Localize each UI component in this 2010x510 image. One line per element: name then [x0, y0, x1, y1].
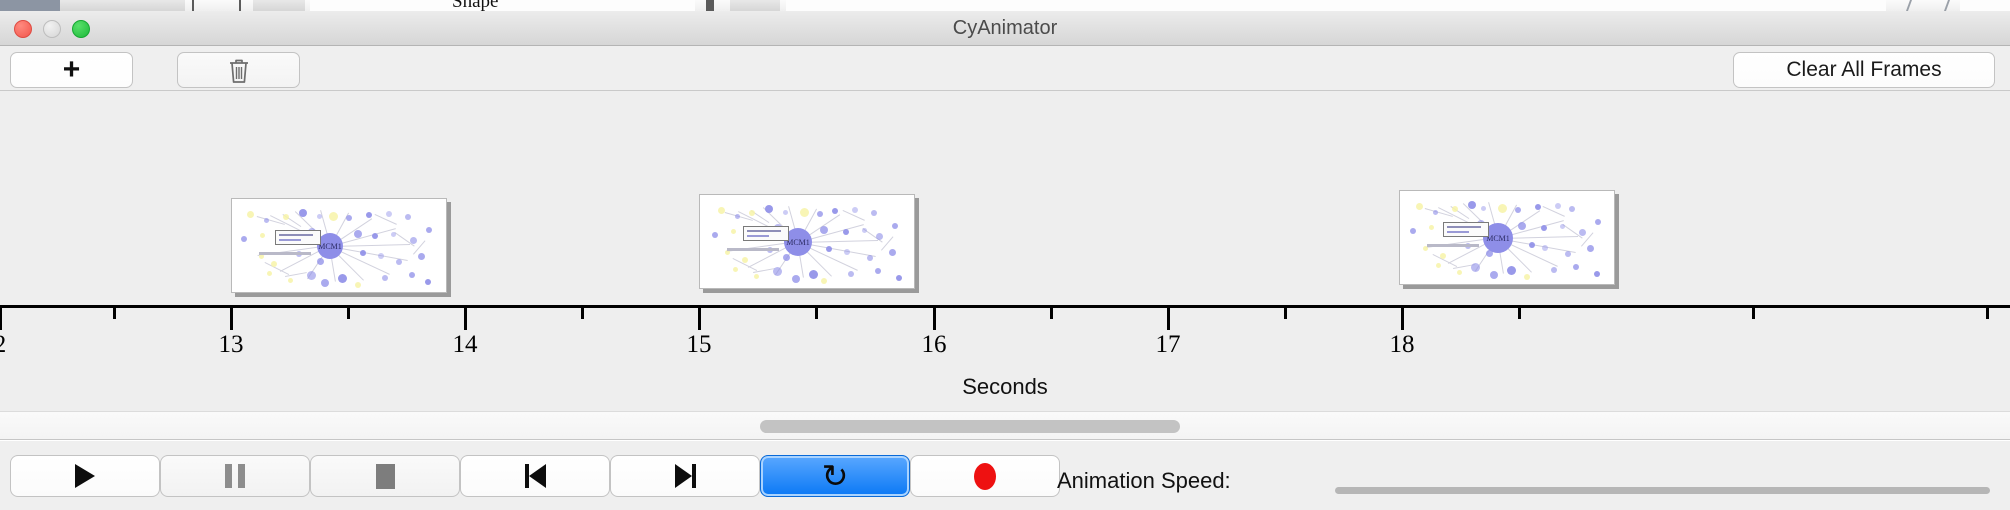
graph-node — [783, 210, 788, 215]
graph-node — [1579, 229, 1586, 236]
axis-tick-minor — [1050, 308, 1053, 319]
graph-node — [1541, 225, 1547, 231]
graph-node — [843, 229, 849, 235]
timeline-axis — [0, 305, 2010, 308]
axis-tick-label: 2 — [0, 331, 6, 359]
axis-tick-label: 14 — [453, 331, 478, 359]
animation-speed-slider[interactable] — [1335, 487, 1990, 494]
graph-node — [712, 232, 718, 238]
graph-node — [1535, 204, 1541, 210]
graph-node — [260, 233, 265, 238]
graph-node — [378, 253, 384, 259]
graph-node — [1471, 263, 1480, 272]
graph-node — [1452, 206, 1458, 212]
graph-node — [1410, 228, 1416, 234]
axis-tick-minor — [815, 308, 818, 319]
play-icon — [75, 464, 95, 488]
graph-node — [892, 223, 898, 229]
graph-node — [826, 246, 832, 252]
graph-annotation-text — [259, 252, 311, 255]
graph-node — [718, 207, 725, 214]
graph-node — [1569, 206, 1575, 212]
graph-callout — [1443, 222, 1489, 237]
graph-node — [792, 275, 800, 283]
graph-node — [733, 267, 738, 272]
graph-node — [1436, 263, 1441, 268]
graph-node — [1551, 267, 1557, 273]
graph-edge — [1543, 206, 1565, 217]
graph-node — [307, 271, 316, 280]
axis-tick-minor — [113, 308, 116, 319]
stop-icon — [376, 464, 395, 489]
graph-node — [848, 271, 854, 277]
graph-node — [1555, 203, 1561, 209]
graph-node — [1490, 271, 1498, 279]
axis-tick-major — [698, 308, 701, 330]
axis-tick-minor — [1518, 308, 1521, 319]
graph-node — [754, 274, 759, 279]
graph-node — [749, 210, 755, 216]
graph-node — [354, 230, 362, 238]
axis-tick-major — [933, 308, 936, 330]
frame-thumbnail: MCM1 — [235, 202, 443, 289]
axis-tick-minor — [347, 308, 350, 319]
axis-tick-minor — [1752, 308, 1755, 319]
cyanimator-window: Shape CyAnimator + Clear All Frames MCM1… — [0, 0, 2010, 510]
graph-node — [773, 267, 782, 276]
graph-node — [832, 208, 838, 214]
axis-tick-minor — [581, 308, 584, 319]
graph-node — [867, 255, 873, 261]
delete-frame-button[interactable] — [177, 52, 300, 88]
graph-node — [765, 205, 773, 213]
graph-node — [1507, 266, 1516, 275]
loop-button[interactable]: ↻ — [760, 455, 910, 497]
graph-node — [317, 258, 324, 265]
graph-node — [1518, 222, 1526, 230]
graph-node — [1573, 264, 1579, 270]
axis-tick-major — [230, 308, 233, 330]
graph-node — [735, 214, 740, 219]
graph-node — [317, 214, 322, 219]
graph-node — [338, 274, 347, 283]
graph-callout — [743, 226, 789, 241]
graph-node — [409, 272, 415, 278]
graph-node — [1524, 274, 1530, 280]
graph-node — [264, 218, 269, 223]
graph-node — [405, 214, 411, 220]
graph-node — [1587, 245, 1594, 252]
axis-tick-minor — [1284, 308, 1287, 319]
graph-node — [876, 233, 883, 240]
graph-node — [288, 278, 293, 283]
timeline-frame[interactable]: MCM1 — [1399, 190, 1615, 285]
axis-tick-label: 15 — [687, 331, 712, 359]
graph-node — [355, 282, 361, 288]
skip-forward-button[interactable] — [610, 455, 760, 497]
graph-node — [731, 229, 736, 234]
axis-tick-label: 17 — [1156, 331, 1181, 359]
timeline-frame[interactable]: MCM1 — [231, 198, 447, 293]
graph-node — [299, 209, 307, 217]
graph-node — [1565, 251, 1571, 257]
graph-node — [418, 253, 425, 260]
graph-node — [366, 212, 372, 218]
graph-node — [820, 226, 828, 234]
graph-node — [800, 208, 809, 217]
timeline-frame[interactable]: MCM1 — [699, 194, 915, 289]
graph-node — [821, 278, 827, 284]
graph-node — [1595, 219, 1601, 225]
graph-node — [889, 249, 896, 256]
graph-node — [1529, 242, 1535, 248]
play-button[interactable] — [10, 455, 160, 497]
timeline-scrollbar[interactable] — [0, 411, 2010, 440]
graph-node — [283, 214, 289, 220]
graph-node — [1429, 225, 1434, 230]
axis-tick-label: 13 — [219, 331, 244, 359]
graph-node — [425, 279, 431, 285]
timeline-panel[interactable]: MCM1MCM1MCM1 2131415161718 Seconds — [0, 91, 2010, 411]
frames-layer: MCM1MCM1MCM1 — [0, 91, 2010, 306]
add-frame-button[interactable]: + — [10, 52, 133, 88]
axis-tick-major — [1401, 308, 1404, 330]
axis-tick-label: 18 — [1390, 331, 1415, 359]
graph-node — [817, 211, 823, 217]
graph-node — [783, 254, 790, 261]
graph-node — [267, 271, 272, 276]
transport-bar: ↻ Animation Speed: — [0, 441, 2010, 510]
graph-annotation-text — [1427, 244, 1479, 247]
axis-tick-minor — [1986, 308, 1989, 319]
graph-node — [247, 211, 254, 218]
graph-node — [241, 236, 247, 242]
graph-node — [1498, 204, 1507, 213]
skip-back-button[interactable] — [460, 455, 610, 497]
graph-callout — [275, 230, 321, 245]
graph-node — [1433, 210, 1438, 215]
frame-toolbar: + Clear All Frames — [0, 46, 2010, 91]
axis-tick-major — [464, 308, 467, 330]
graph-node — [386, 211, 392, 217]
graph-node — [871, 210, 877, 216]
graph-node — [346, 215, 352, 221]
record-icon — [974, 463, 996, 490]
axis-tick-label: 16 — [922, 331, 947, 359]
graph-node — [1594, 271, 1600, 277]
background-window-label: Shape — [452, 0, 498, 11]
graph-node — [410, 237, 417, 244]
graph-node — [896, 275, 902, 281]
graph-node — [844, 249, 850, 255]
graph-node — [1468, 201, 1476, 209]
graph-node — [360, 250, 366, 256]
graph-node — [396, 259, 402, 265]
trash-icon — [227, 57, 251, 84]
graph-node — [382, 275, 388, 281]
graph-node — [391, 232, 396, 237]
graph-node — [1457, 270, 1462, 275]
graph-node — [742, 257, 748, 263]
graph-node — [1542, 245, 1548, 251]
loop-icon: ↻ — [822, 460, 849, 492]
graph-node — [1440, 253, 1446, 259]
pause-icon — [225, 464, 245, 488]
graph-node — [372, 233, 378, 239]
record-button[interactable] — [910, 455, 1060, 497]
clear-all-frames-label: Clear All Frames — [1786, 58, 1941, 82]
scrollbar-thumb[interactable] — [760, 420, 1180, 433]
skip-back-icon — [525, 464, 546, 488]
stop-button[interactable] — [310, 455, 460, 497]
axis-title: Seconds — [0, 374, 2010, 400]
axis-tick-major — [0, 308, 2, 330]
graph-node — [329, 212, 338, 221]
window-title: CyAnimator — [0, 17, 2010, 40]
graph-node — [1560, 224, 1565, 229]
plus-icon: + — [63, 55, 81, 85]
graph-node — [875, 268, 881, 274]
graph-node — [1481, 206, 1486, 211]
frame-thumbnail: MCM1 — [1403, 194, 1611, 281]
skip-forward-icon — [675, 464, 696, 488]
graph-node — [321, 279, 329, 287]
graph-node — [1515, 207, 1521, 213]
graph-node — [852, 207, 858, 213]
frame-thumbnail: MCM1 — [703, 198, 911, 285]
title-bar: CyAnimator — [0, 11, 2010, 46]
graph-node — [1416, 203, 1423, 210]
background-desktop-strip: Shape — [0, 0, 2010, 11]
graph-node — [809, 270, 818, 279]
clear-all-frames-button[interactable]: Clear All Frames — [1733, 52, 1995, 88]
pause-button[interactable] — [160, 455, 310, 497]
graph-annotation-text — [727, 248, 779, 251]
animation-speed-label: Animation Speed: — [1057, 468, 1231, 494]
graph-node — [862, 228, 867, 233]
graph-node — [271, 261, 277, 267]
graph-node — [426, 227, 432, 233]
axis-tick-major — [1167, 308, 1170, 330]
